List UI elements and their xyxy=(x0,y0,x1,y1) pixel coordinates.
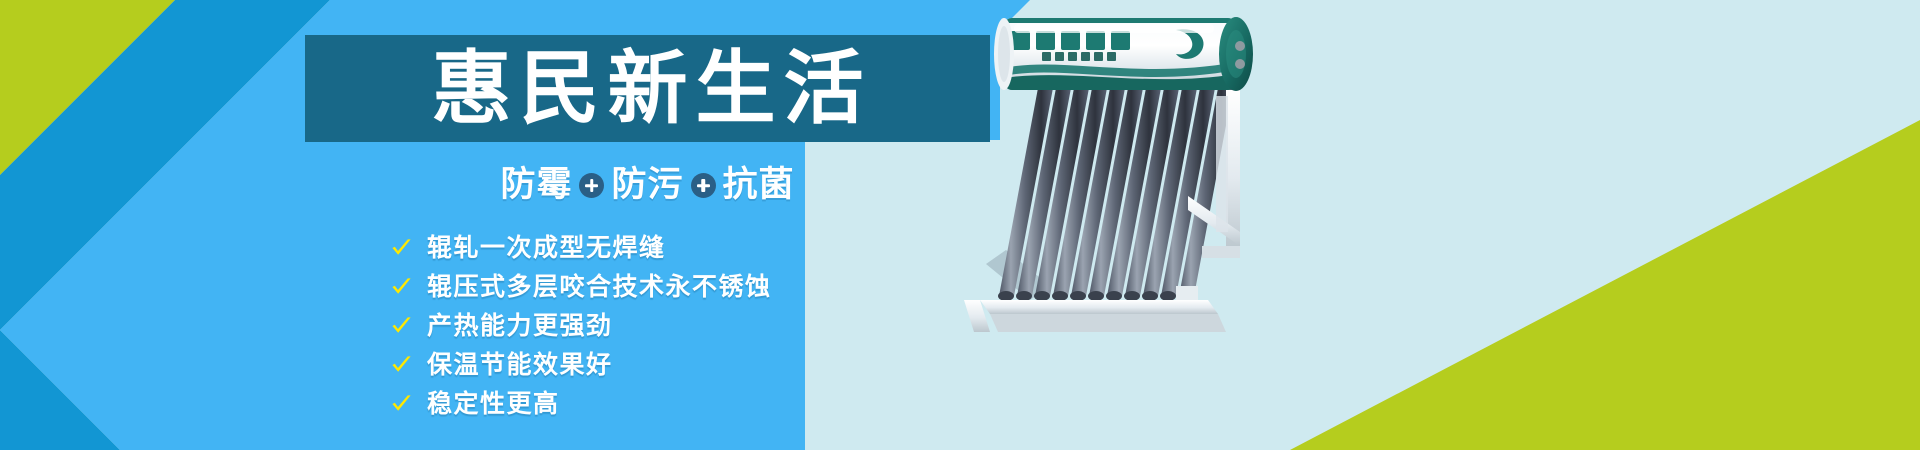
title-plate: 惠民新生活 xyxy=(305,35,990,142)
water-tank xyxy=(994,17,1253,91)
feature-label: 辊压式多层咬合技术永不锈蚀 xyxy=(427,274,772,299)
feature-list: 辊轧一次成型无焊缝 辊压式多层咬合技术永不锈蚀 产热能力更强劲 保温节能效果好 xyxy=(390,232,772,418)
check-icon xyxy=(390,353,413,376)
feature-label: 稳定性更高 xyxy=(427,391,560,416)
promo-banner: 惠民新生活 防霉 防污 抗菌 辊轧一次成型无焊缝 辊压式多层咬合技术永不锈蚀 产… xyxy=(0,0,1920,450)
check-icon xyxy=(390,314,413,337)
check-icon xyxy=(390,275,413,298)
feature-item: 辊轧一次成型无焊缝 xyxy=(390,232,772,262)
subtitle-word-2: 防污 xyxy=(611,168,683,203)
feature-item: 保温节能效果好 xyxy=(390,349,772,379)
feature-item: 辊压式多层咬合技术永不锈蚀 xyxy=(390,271,772,301)
plus-badge-icon xyxy=(579,173,604,198)
feature-label: 辊轧一次成型无焊缝 xyxy=(427,235,666,260)
check-icon xyxy=(390,236,413,259)
subtitle-word-3: 抗菌 xyxy=(723,168,795,203)
feature-item: 稳定性更高 xyxy=(390,388,772,418)
check-icon xyxy=(390,392,413,415)
vacuum-tube-array xyxy=(986,88,1233,301)
feature-label: 保温节能效果好 xyxy=(427,352,613,377)
page-title: 惠民新生活 xyxy=(424,49,872,129)
subtitle-word-1: 防霉 xyxy=(500,168,572,203)
plus-badge-icon xyxy=(691,173,716,198)
subtitle: 防霉 防污 抗菌 xyxy=(305,168,990,203)
product-image xyxy=(940,0,1340,450)
feature-label: 产热能力更强劲 xyxy=(427,313,613,338)
feature-item: 产热能力更强劲 xyxy=(390,310,772,340)
